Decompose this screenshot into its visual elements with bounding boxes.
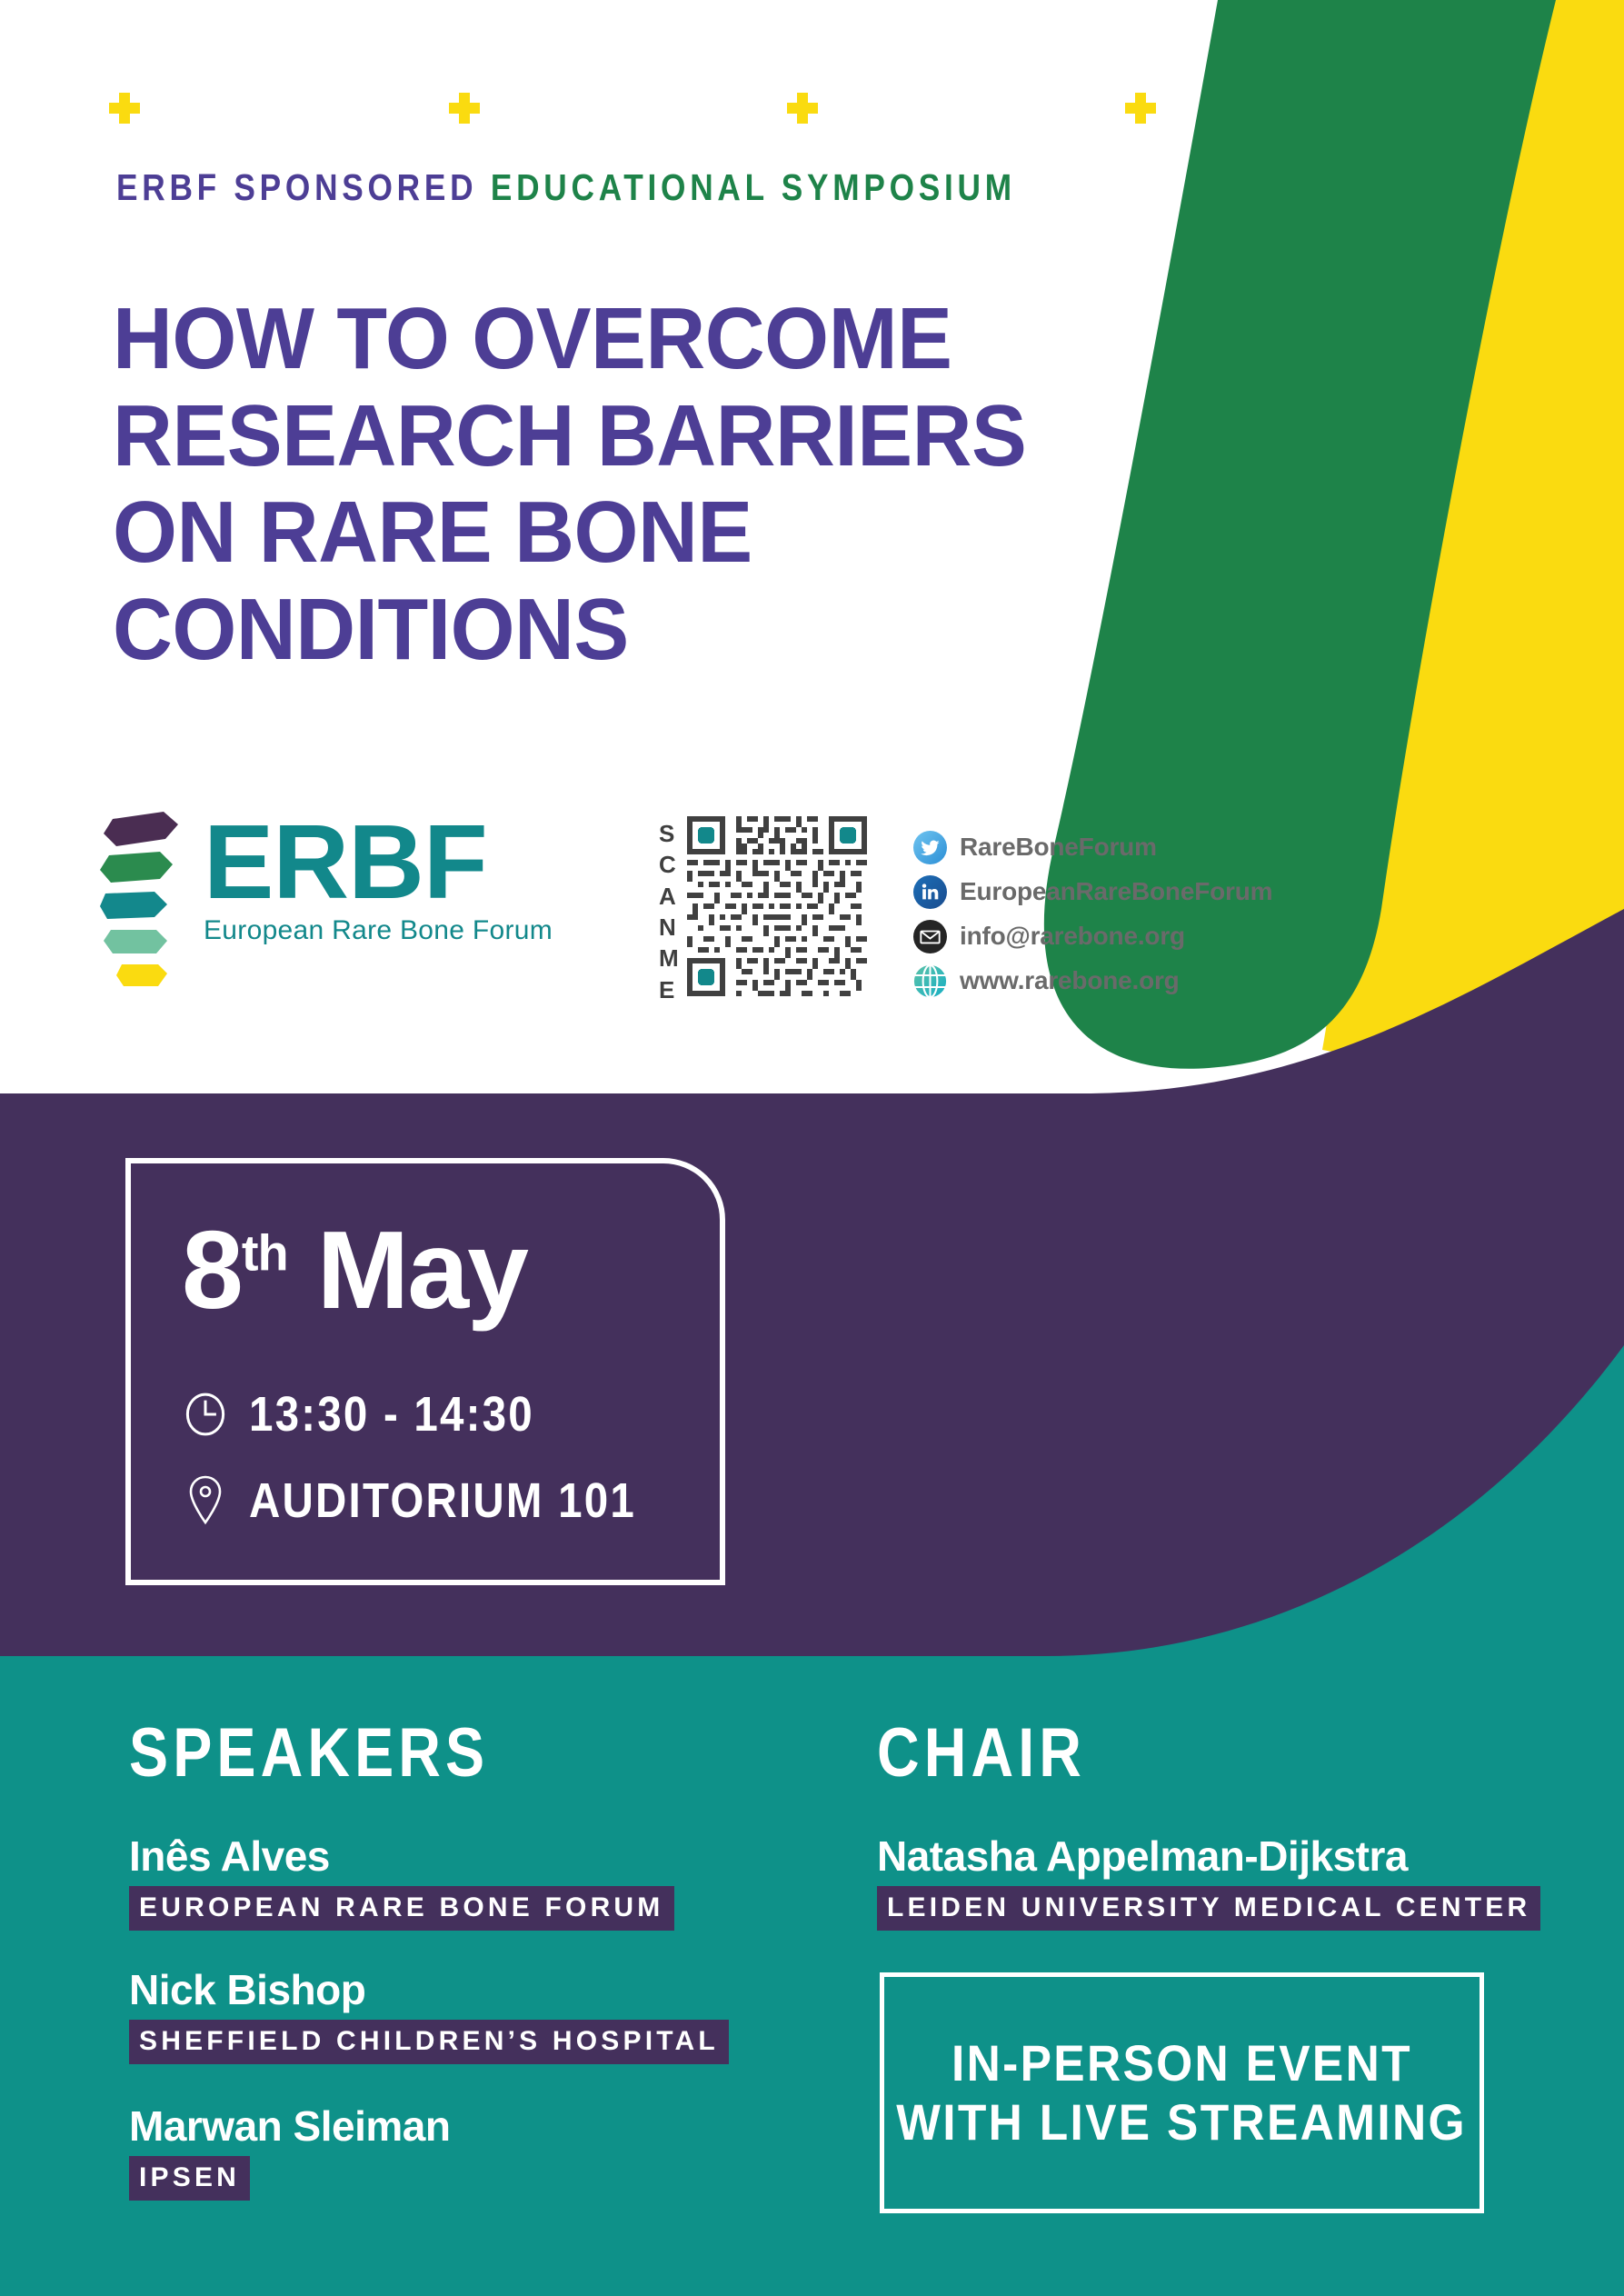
contact-row-email[interactable]: info@rarebone.org [913,914,1272,958]
qr-code-icon[interactable] [687,816,867,996]
decorative-cross-icon-2 [449,93,480,124]
scan-letter-n: N [659,912,679,943]
event-format-line-2: WITH LIVE STREAMING [897,2093,1468,2152]
clock-icon [182,1387,229,1442]
erbf-logo-acronym: ERBF [204,817,553,908]
title-line-2: RESEARCH BARRIERS [113,388,1131,485]
speaker-name: Nick Bishop [129,1965,729,2014]
scan-letter-c: C [659,849,679,880]
contact-label-twitter: RareBoneForum [960,833,1157,862]
contact-label-website: www.rarebone.org [960,966,1180,995]
contact-label-email: info@rarebone.org [960,922,1185,951]
event-time-text: 13:30 - 14:30 [249,1386,534,1442]
event-month: May [317,1208,527,1332]
vertebrae-stack-icon [100,808,184,990]
decorative-cross-icon-1 [109,93,140,124]
title-line-1: HOW TO OVERCOME [113,291,1131,388]
event-location-text: AUDITORIUM 101 [249,1472,636,1529]
speaker-name: Inês Alves [129,1832,674,1881]
decorative-cross-icon-4 [1125,93,1156,124]
event-day-suffix: th [242,1223,288,1281]
speaker-affiliation: EUROPEAN RARE BONE FORUM [129,1886,674,1931]
contact-label-linkedin: EuropeanRareBoneForum [960,877,1272,906]
chair-name: Natasha Appelman-Dijkstra [877,1832,1540,1881]
speaker-entry-3: Marwan Sleiman IPSEN [129,2101,450,2201]
poster-root: ERBF SPONSORED EDUCATIONAL SYMPOSIUM HOW… [0,0,1624,2296]
scan-letter-s: S [659,818,679,849]
scan-letter-e: E [659,974,679,1005]
linkedin-icon [913,875,947,909]
contact-list: RareBoneForum EuropeanRareBoneForum info… [913,825,1272,1003]
globe-icon [913,964,947,998]
event-day: 8 [182,1208,242,1332]
map-pin-icon [182,1473,229,1528]
chair-affiliation: LEIDEN UNIVERSITY MEDICAL CENTER [877,1886,1540,1931]
title-line-3: ON RARE BONE [113,484,1131,582]
event-time-row: 13:30 - 14:30 [182,1386,573,1442]
kicker-part-two: EDUCATIONAL SYMPOSIUM [491,166,1016,208]
scan-me-label: S C A N M E [659,818,679,1005]
scan-letter-m: M [659,943,679,973]
event-format-line-1: IN-PERSON EVENT [951,2034,1412,2093]
kicker-line: ERBF SPONSORED EDUCATIONAL SYMPOSIUM [116,166,1016,209]
title-line-4: CONDITIONS [113,582,1131,679]
speaker-affiliation: SHEFFIELD CHILDREN’S HOSPITAL [129,2020,729,2064]
qr-block: S C A N M E [659,816,867,1005]
erbf-logo: ERBF European Rare Bone Forum [100,804,553,990]
event-format-box: IN-PERSON EVENT WITH LIVE STREAMING [880,1972,1484,2213]
speaker-affiliation: IPSEN [129,2156,250,2201]
decorative-cross-icon-3 [787,93,818,124]
speaker-name: Marwan Sleiman [129,2101,450,2151]
page-title: HOW TO OVERCOME RESEARCH BARRIERS ON RAR… [113,291,1131,678]
speaker-entry-2: Nick Bishop SHEFFIELD CHILDREN’S HOSPITA… [129,1965,729,2064]
contact-row-website[interactable]: www.rarebone.org [913,959,1272,1003]
erbf-logo-fullname: European Rare Bone Forum [204,915,553,946]
contact-row-linkedin[interactable]: EuropeanRareBoneForum [913,870,1272,913]
email-icon [913,920,947,953]
event-location-row: AUDITORIUM 101 [182,1472,689,1529]
contact-row-twitter[interactable]: RareBoneForum [913,825,1272,869]
chair-entry-1: Natasha Appelman-Dijkstra LEIDEN UNIVERS… [877,1832,1540,1931]
event-date: 8th May [182,1214,527,1325]
kicker-part-one: ERBF SPONSORED [116,166,477,208]
scan-letter-a: A [659,881,679,912]
chair-heading: CHAIR [877,1713,1086,1792]
speaker-entry-1: Inês Alves EUROPEAN RARE BONE FORUM [129,1832,674,1931]
twitter-icon [913,831,947,864]
speakers-heading: SPEAKERS [129,1713,489,1792]
event-details-box: 8th May 13:30 - 14:30 AUDITORIUM 101 [125,1158,725,1585]
